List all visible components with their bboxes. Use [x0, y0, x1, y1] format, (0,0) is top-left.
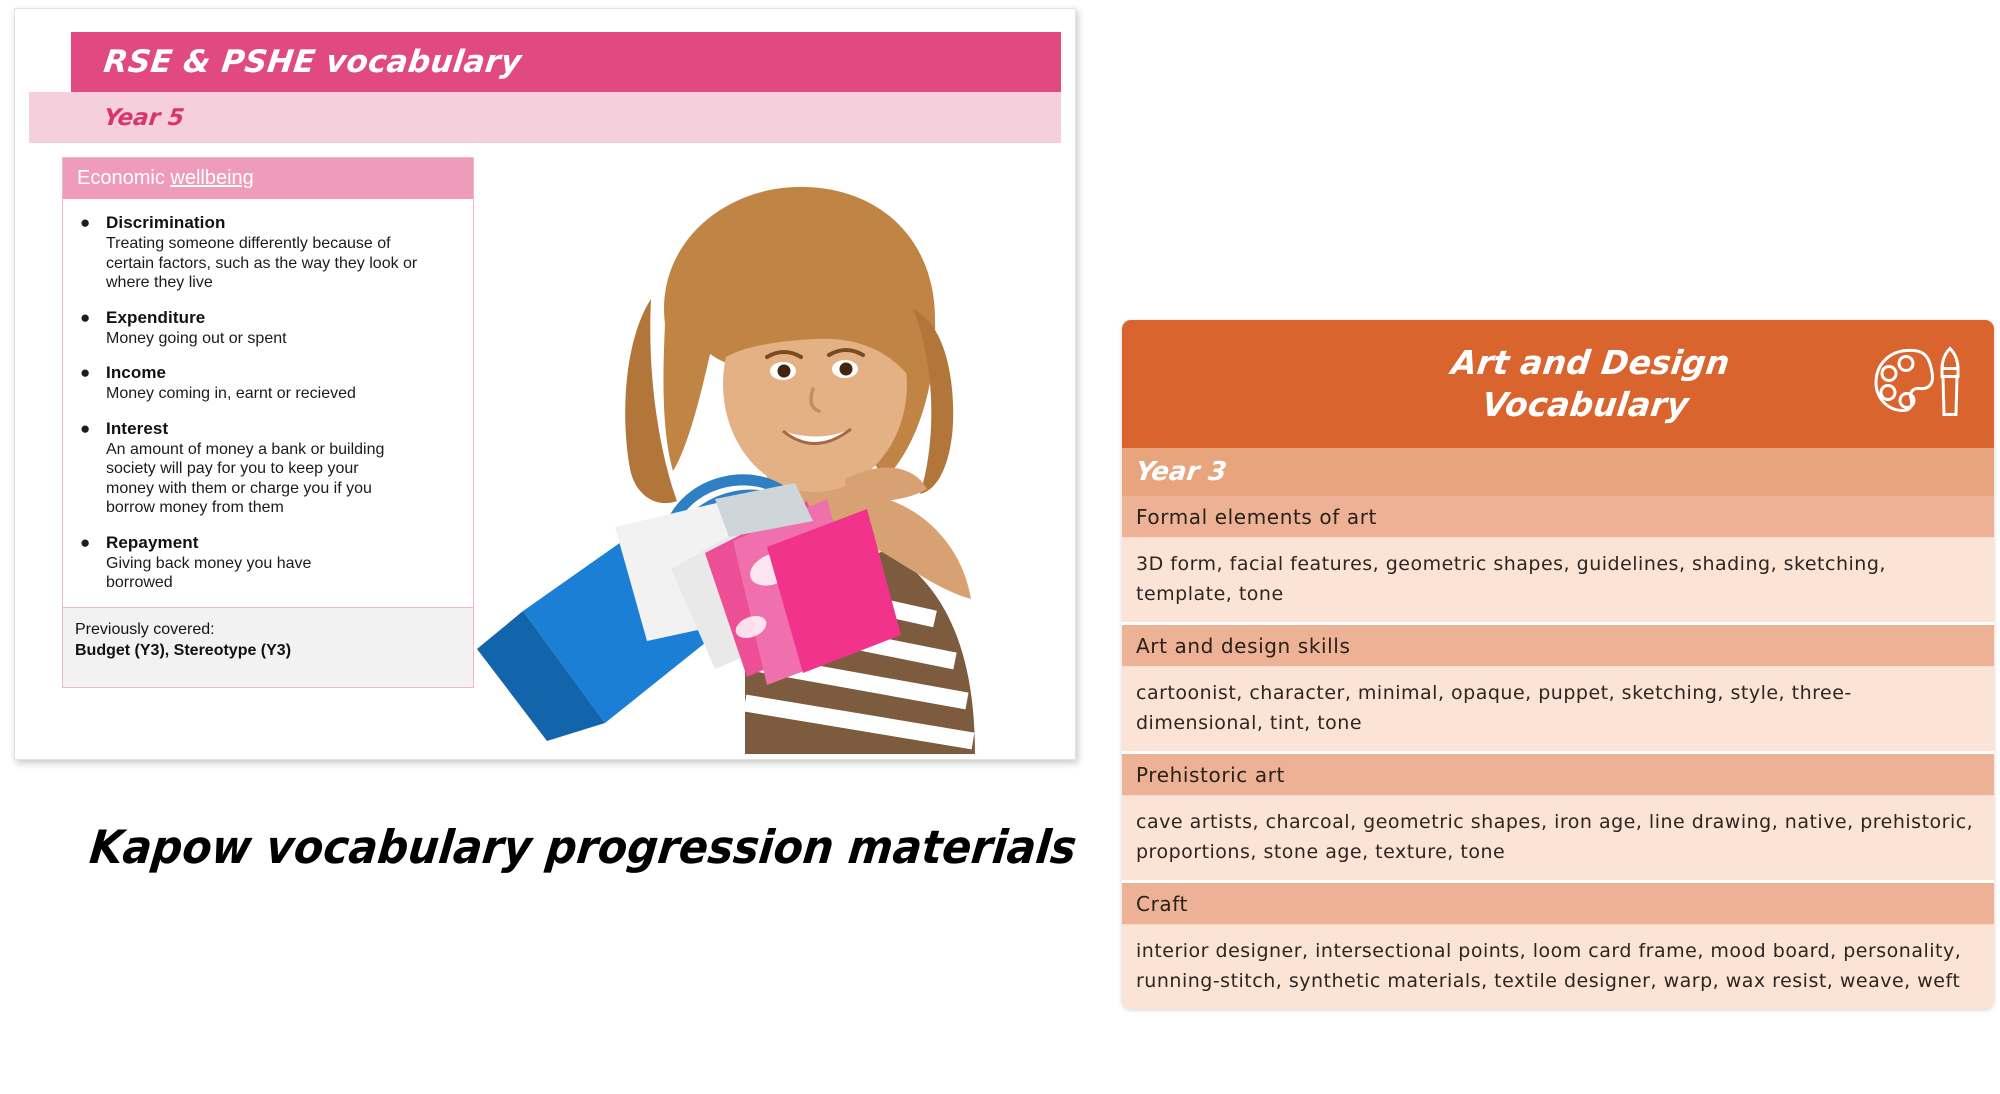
- bullet-icon: ●: [75, 363, 106, 404]
- art-card-year-bar: Year 3: [1122, 448, 1994, 496]
- art-section-heading: Art and design skills: [1122, 634, 1351, 658]
- art-section-header: Craft: [1122, 883, 1994, 925]
- art-card-title: Art and Design Vocabulary: [1444, 342, 1732, 426]
- art-section-heading: Craft: [1122, 892, 1188, 916]
- rse-slide-title: RSE & PSHE vocabulary: [69, 44, 524, 80]
- previously-covered-value: Budget (Y3), Stereotype (Y3): [75, 640, 461, 661]
- vocabulary-list: ● Discrimination Treating someone differ…: [63, 199, 473, 607]
- art-section-header: Formal elements of art: [1122, 496, 1994, 538]
- vocabulary-panel-title: Economic wellbeing: [63, 167, 254, 190]
- previously-covered-label: Previously covered:: [75, 619, 461, 640]
- art-card-title-line1: Art and Design: [1449, 342, 1732, 384]
- vocabulary-definition: Treating someone differently because of …: [106, 234, 424, 293]
- art-card-title-line2: Vocabulary: [1444, 384, 1727, 426]
- art-section: Prehistoric art cave artists, charcoal, …: [1122, 751, 1994, 880]
- art-section: Formal elements of art 3D form, facial f…: [1122, 496, 1994, 622]
- art-section-heading: Formal elements of art: [1122, 505, 1377, 529]
- art-and-design-vocabulary-card: Art and Design Vocabulary Year 3 Formal …: [1122, 320, 1994, 1009]
- vocabulary-panel: Economic wellbeing ● Discrimination Trea…: [62, 157, 474, 688]
- bullet-icon: ●: [75, 533, 106, 593]
- list-item: ● Income Money coming in, earnt or recie…: [75, 363, 463, 404]
- list-item: ● Expenditure Money going out or spent: [75, 308, 463, 349]
- vocabulary-term: Discrimination: [106, 213, 463, 233]
- art-section-heading: Prehistoric art: [1122, 763, 1285, 787]
- art-section-body: 3D form, facial features, geometric shap…: [1122, 538, 1994, 622]
- page-caption: Kapow vocabulary progression materials: [87, 820, 1023, 874]
- bullet-icon: ●: [75, 213, 106, 293]
- rse-pshe-slide: RSE & PSHE vocabulary Year 5: [14, 8, 1076, 760]
- art-section: Craft interior designer, intersectional …: [1122, 880, 1994, 1009]
- art-section-words: cave artists, charcoal, geometric shapes…: [1136, 807, 1978, 867]
- rse-slide-header: RSE & PSHE vocabulary: [71, 32, 1061, 92]
- shopping-girl-photo: [415, 149, 1075, 754]
- art-section-body: cave artists, charcoal, geometric shapes…: [1122, 796, 1994, 880]
- art-card-year-label: Year 3: [1122, 457, 1228, 487]
- art-section-header: Art and design skills: [1122, 625, 1994, 667]
- bullet-icon: ●: [75, 308, 106, 349]
- vocabulary-definition: An amount of money a bank or building so…: [106, 440, 406, 518]
- vocabulary-panel-title-bar: Economic wellbeing: [63, 158, 473, 199]
- vocabulary-term: Expenditure: [106, 308, 463, 328]
- art-section-words: 3D form, facial features, geometric shap…: [1136, 549, 1978, 609]
- vocabulary-term: Interest: [106, 419, 463, 439]
- photo-illustration: [415, 149, 1075, 754]
- vocabulary-definition: Giving back money you have borrowed: [106, 554, 356, 593]
- panel-title-word-1: Economic: [77, 167, 170, 189]
- art-section: Art and design skills cartoonist, charac…: [1122, 622, 1994, 751]
- vocabulary-term: Repayment: [106, 533, 463, 553]
- palette-and-paintbrush-icon: [1870, 341, 1966, 428]
- rse-slide-year-label: Year 5: [27, 105, 185, 131]
- vocabulary-definition: Money going out or spent: [106, 329, 424, 349]
- previously-covered-section: Previously covered: Budget (Y3), Stereot…: [63, 607, 473, 687]
- vocabulary-definition: Money coming in, earnt or recieved: [106, 384, 424, 404]
- bullet-icon: ●: [75, 419, 106, 518]
- art-section-body: interior designer, intersectional points…: [1122, 925, 1994, 1009]
- rse-slide-year-bar: Year 5: [29, 92, 1061, 143]
- art-section-words: interior designer, intersectional points…: [1136, 936, 1978, 996]
- art-section-words: cartoonist, character, minimal, opaque, …: [1136, 678, 1978, 738]
- art-card-header: Art and Design Vocabulary: [1122, 320, 1994, 448]
- vocabulary-term: Income: [106, 363, 463, 383]
- art-section-header: Prehistoric art: [1122, 754, 1994, 796]
- list-item: ● Repayment Giving back money you have b…: [75, 533, 463, 593]
- list-item: ● Interest An amount of money a bank or …: [75, 419, 463, 518]
- panel-title-word-2: wellbeing: [170, 167, 253, 189]
- art-section-body: cartoonist, character, minimal, opaque, …: [1122, 667, 1994, 751]
- list-item: ● Discrimination Treating someone differ…: [75, 213, 463, 293]
